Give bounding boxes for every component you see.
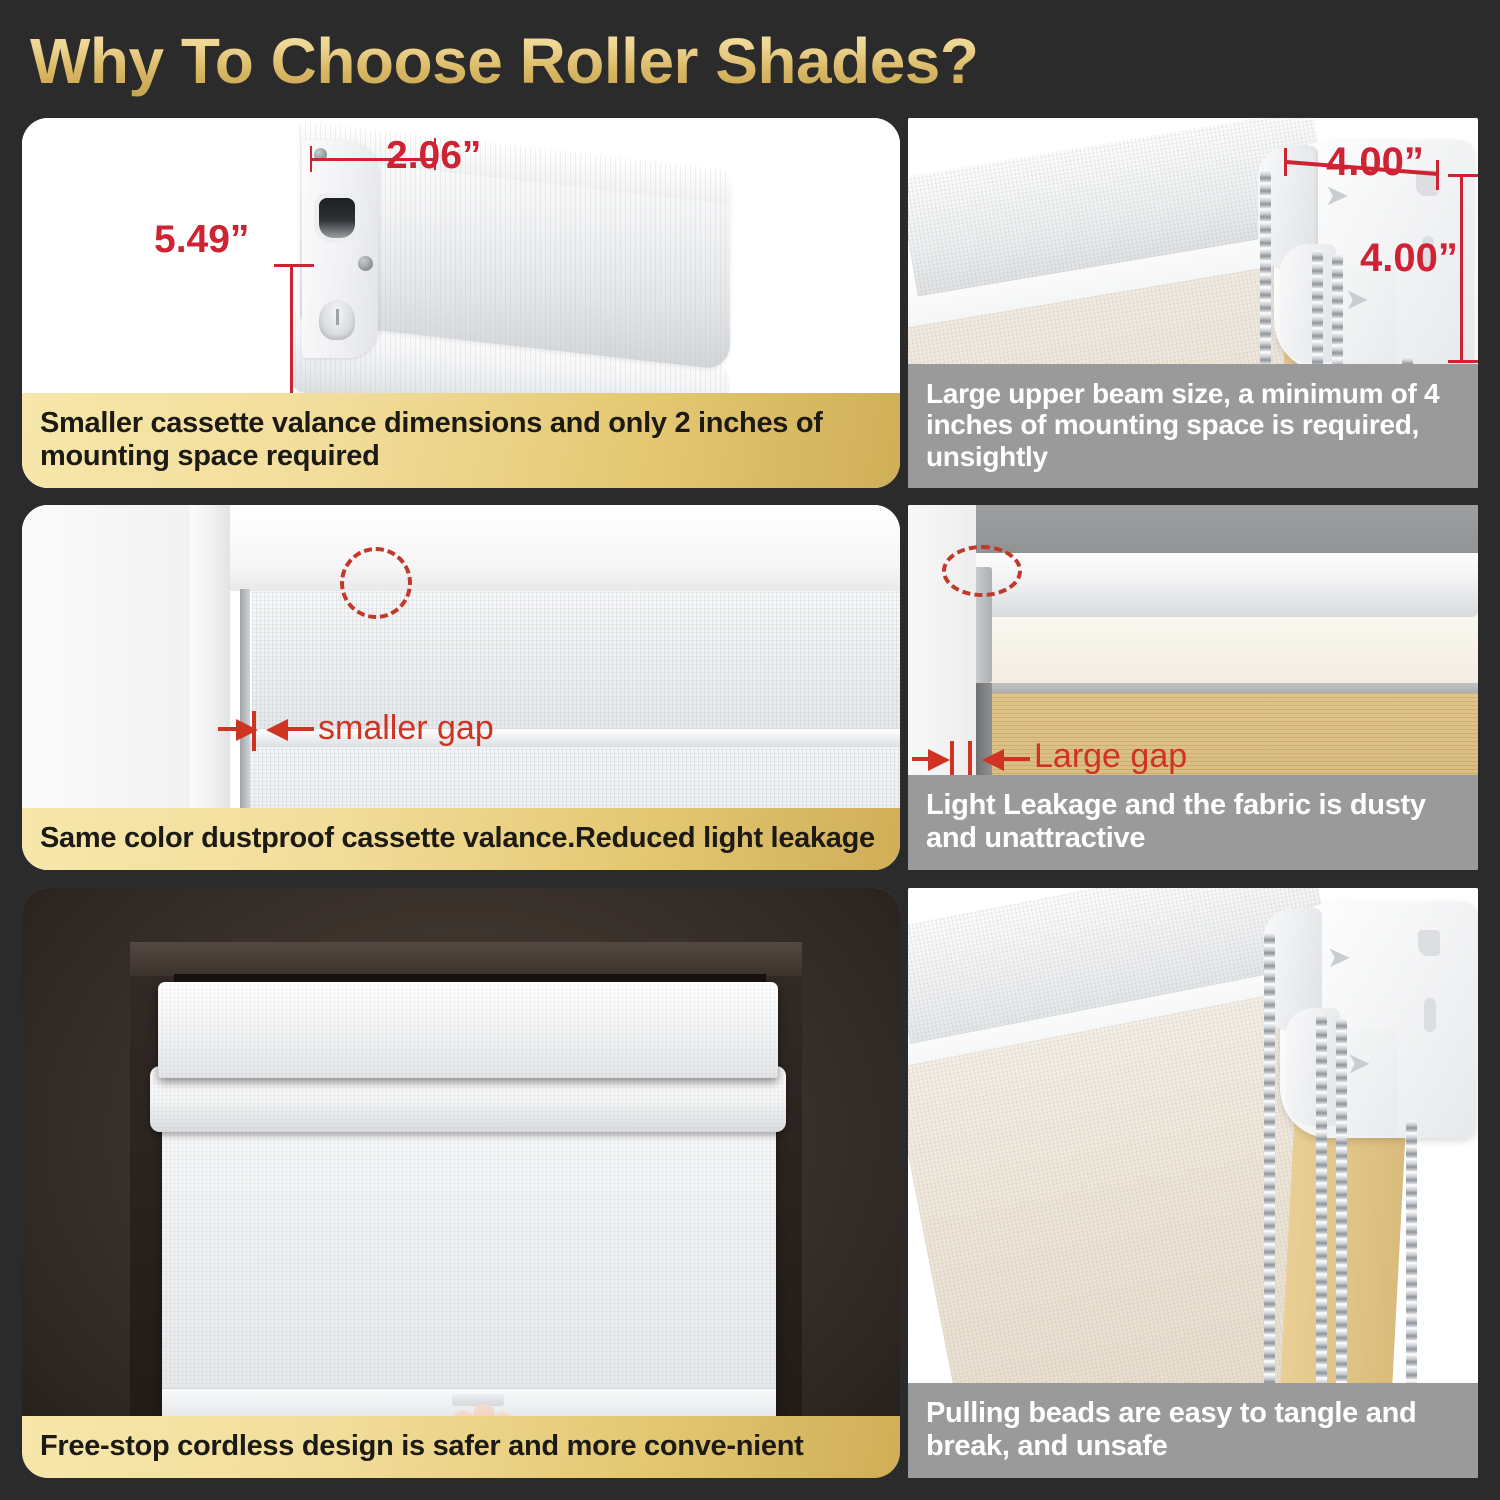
room-window-scene [22,888,900,1478]
panel-large-upper-beam: ➤ ➤ 4.00” 4.00” Large upper beam size, a… [908,118,1478,488]
shade-fabric [162,1126,776,1412]
bracket-slot-icon [1418,930,1440,956]
gap-arrow-stem [288,727,314,731]
height-dimension-tick-top [274,264,314,267]
width-dimension-label: 4.00” [1326,140,1424,185]
panel-caption: Free-stop cordless design is safer and m… [22,1416,900,1478]
gap-measure-bar [252,711,256,751]
highlight-circle [942,545,1022,597]
end-cap-slot-icon [319,198,355,238]
width-dimension-label: 2.06” [386,134,481,178]
height-dimension-label: 4.00” [1360,236,1458,281]
panel-caption: Large upper beam size, a minimum of 4 in… [908,364,1478,488]
panel-pulling-beads-unsafe: ➤ ➤ Pulling beads are easy to tangle and… [908,888,1478,1478]
bracket-arrow-icon: ➤ [1348,1048,1370,1079]
panel-caption: Pulling beads are easy to tangle and bre… [908,1383,1478,1478]
panel-caption: Smaller cassette valance dimensions and … [22,393,900,488]
gap-label: Large gap [1034,737,1187,776]
end-cap-knob-icon [319,300,355,340]
page-title: Why To Choose Roller Shades? [30,22,1090,100]
gap-measure-bar [950,741,954,779]
height-dimension-tick-bottom [1448,360,1478,363]
window-header [130,942,802,976]
height-dimension-tick-top [1448,174,1478,177]
pull-tab [452,1394,504,1406]
bead-chain [1264,932,1275,1452]
roller-disc [1286,1008,1340,1126]
screw-icon [358,256,373,271]
gap-measure-bar [968,741,972,779]
gap-arrow-left-icon [266,719,288,741]
cassette-valance [158,982,778,1078]
cassette-texture [158,982,778,1078]
panel-dustproof-cassette-valance: smaller gap Same color dustproof cassett… [22,505,900,870]
bracket-arrow-icon: ➤ [1328,942,1350,973]
panel-smaller-cassette-valance: 2.06” 5.49” Smaller cassette valance dim… [22,118,900,488]
panel-caption: Light Leakage and the fabric is dusty an… [908,775,1478,870]
panel-free-stop-cordless: Free-stop cordless design is safer and m… [22,888,900,1478]
fabric-weave-texture [252,589,900,729]
valance-face [974,613,1478,683]
bracket-arrow-icon: ➤ [1346,284,1368,315]
panel-caption: Same color dustproof cassette valance.Re… [22,808,900,870]
fabric-weave-texture [162,1126,776,1412]
highlight-circle [340,547,412,619]
window-head-jamb [218,505,900,591]
gap-label: smaller gap [318,709,494,748]
roller-tube [974,553,1478,617]
gap-arrow-left-icon [982,749,1004,771]
gap-arrow-right-icon [928,749,950,771]
panel-light-leakage-dusty: Large gap Light Leakage and the fabric i… [908,505,1478,870]
height-dimension-line [1460,174,1463,362]
infographic-root: Why To Choose Roller Shades? 2.06 [0,0,1500,1500]
roller-disc [1280,244,1336,362]
height-dimension-label: 5.49” [154,218,249,262]
gap-arrow-stem [1004,757,1030,761]
upper-shade-fabric [252,589,900,729]
bracket-slot-icon [1424,998,1436,1032]
